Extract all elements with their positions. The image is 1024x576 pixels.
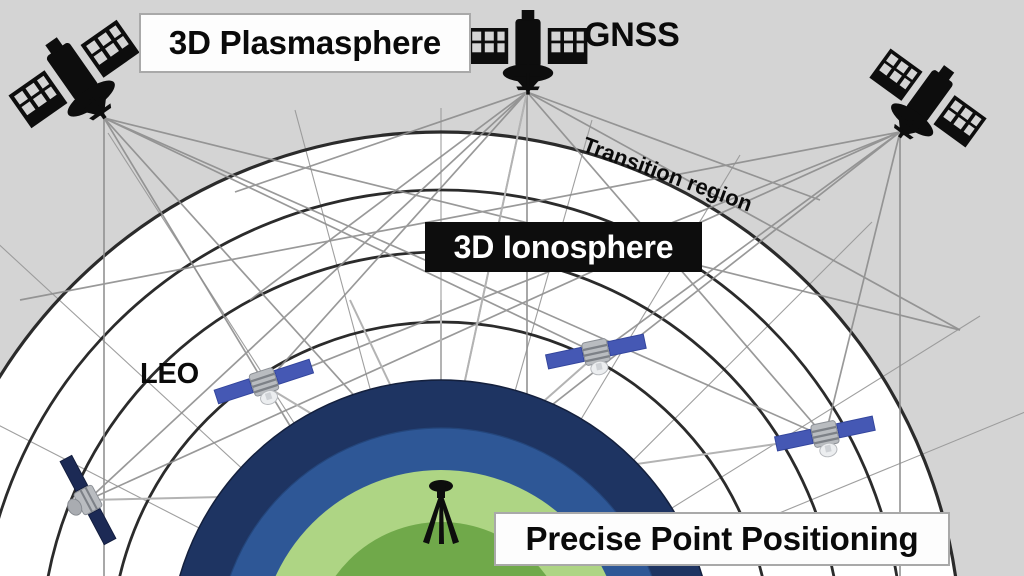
label-3d-plasmasphere: 3D Plasmasphere	[139, 13, 471, 73]
label-leo: LEO	[140, 357, 212, 391]
label-gnss: GNSS	[584, 12, 704, 58]
ionosphere-plasmasphere-diagram	[0, 0, 1024, 576]
label-3d-plasmasphere-text: 3D Plasmasphere	[169, 24, 441, 62]
label-3d-ionosphere: 3D Ionosphere	[425, 222, 702, 272]
label-precise-point-positioning-text: Precise Point Positioning	[526, 520, 919, 558]
label-leo-text: LEO	[140, 358, 199, 391]
label-3d-ionosphere-text: 3D Ionosphere	[454, 229, 674, 266]
label-gnss-text: GNSS	[584, 16, 680, 55]
figure-canvas: 3D Plasmasphere GNSS Transition region 3…	[0, 0, 1024, 576]
label-precise-point-positioning: Precise Point Positioning	[494, 512, 950, 566]
